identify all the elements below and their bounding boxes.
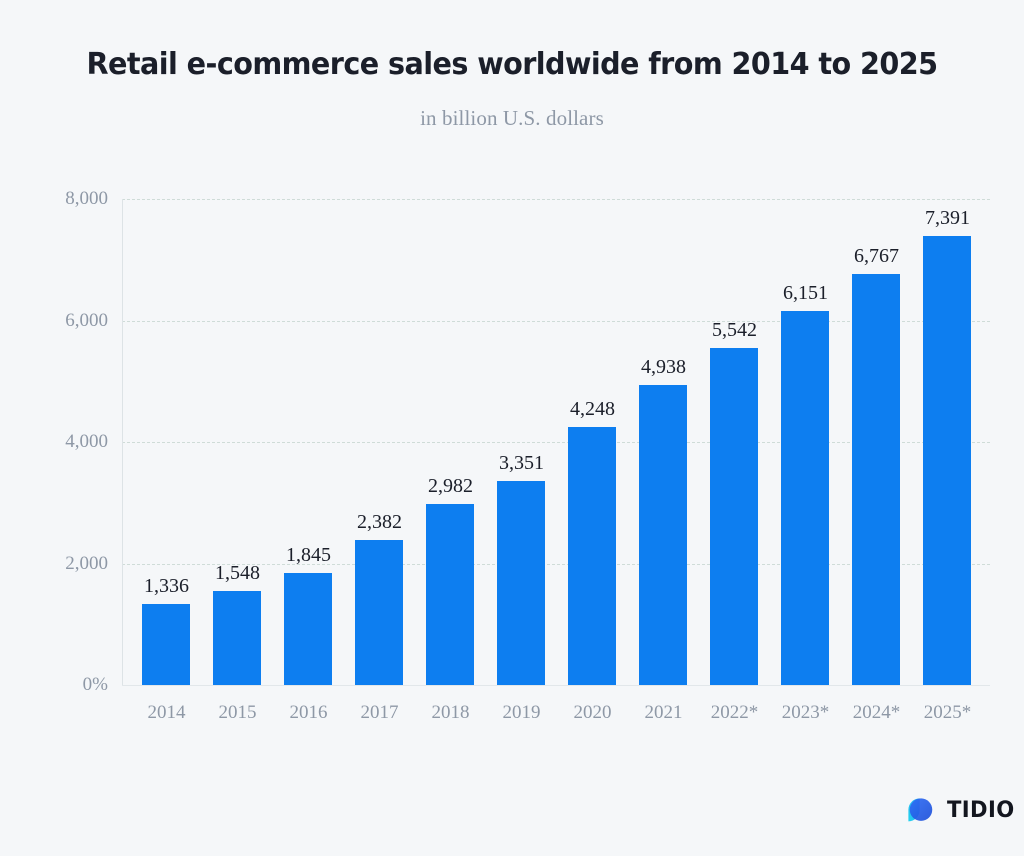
y-axis-tick-label: 4,000 [0,431,108,453]
bar[interactable] [142,604,190,685]
bar[interactable] [213,591,261,685]
bar[interactable] [923,236,971,685]
bar[interactable] [284,573,332,685]
bar[interactable] [639,385,687,685]
x-axis-tick-label: 2022* [699,702,770,724]
bar[interactable] [426,504,474,685]
x-axis-tick-label: 2020 [557,702,628,724]
bar[interactable] [710,348,758,685]
bar[interactable] [852,274,900,685]
bar[interactable] [781,311,829,685]
x-axis-tick-label: 2023* [770,702,841,724]
bar-value-label: 4,938 [628,356,699,379]
bar-value-label: 5,542 [699,319,770,342]
x-axis-tick-label: 2014 [131,702,202,724]
bar-value-label: 2,382 [344,511,415,534]
bar[interactable] [497,481,545,685]
bar-value-label: 1,548 [202,562,273,585]
bar[interactable] [355,540,403,685]
bar-value-label: 3,351 [486,452,557,475]
x-axis-tick-label: 2025* [912,702,983,724]
y-axis-labels: 0%2,0004,0006,0008,000 [0,0,108,856]
bar-series: 1,33620141,54820151,84520162,38220172,98… [122,0,990,856]
bar-value-label: 4,248 [557,398,628,421]
tidio-logo-text: TIDIO [947,800,1015,822]
y-axis-tick-label: 6,000 [0,310,108,332]
bar-value-label: 2,982 [415,475,486,498]
bar-value-label: 1,845 [273,544,344,567]
y-axis-tick-label: 0% [0,674,108,696]
x-axis-tick-label: 2019 [486,702,557,724]
tidio-logo[interactable]: TIDIO [903,793,1017,829]
x-axis-tick-label: 2021 [628,702,699,724]
y-axis-tick-label: 8,000 [0,188,108,210]
x-axis-tick-label: 2017 [344,702,415,724]
x-axis-tick-label: 2016 [273,702,344,724]
x-axis-tick-label: 2024* [841,702,912,724]
y-axis-tick-label: 2,000 [0,553,108,575]
x-axis-tick-label: 2018 [415,702,486,724]
bar-value-label: 6,767 [841,245,912,268]
bar-value-label: 1,336 [131,575,202,598]
bar-value-label: 7,391 [912,207,983,230]
chart-plot-area: 0%2,0004,0006,0008,000 1,33620141,548201… [0,0,1024,856]
tidio-logo-icon [903,793,939,829]
x-axis-tick-label: 2015 [202,702,273,724]
bar[interactable] [568,427,616,685]
bar-value-label: 6,151 [770,282,841,305]
